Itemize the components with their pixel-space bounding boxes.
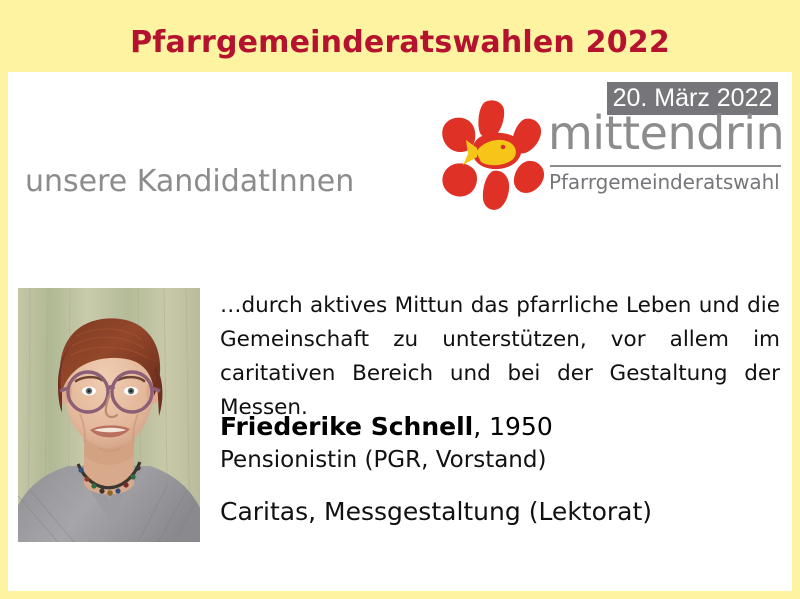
sun-fish-logo-icon	[433, 99, 555, 211]
candidate-name-line: Friederike Schnell, 1950	[220, 412, 553, 441]
logo-wordmark: mittendrin Pfarrgemeinderatswahl	[548, 107, 783, 207]
candidate-photo	[18, 288, 200, 542]
page-title: Pfarrgemeinderatswahlen 2022	[0, 25, 800, 60]
logo-subtitle: Pfarrgemeinderatswahl	[549, 170, 780, 194]
section-subtitle: unsere KandidatInnen	[25, 164, 354, 199]
poster: Pfarrgemeinderatswahlen 2022 20. März 20…	[0, 0, 800, 599]
logo-name: mittendrin	[548, 107, 784, 159]
candidate-roles: Caritas, Messgestaltung (Lektorat)	[220, 497, 652, 526]
logo: mittendrin Pfarrgemeinderatswahl	[433, 97, 783, 212]
candidate-quote: …durch aktives Mittun das pfarrliche Leb…	[220, 289, 780, 425]
logo-divider	[550, 165, 781, 167]
candidate-occupation: Pensionistin (PGR, Vorstand)	[220, 447, 546, 473]
candidate-birth-year: , 1950	[473, 412, 553, 441]
header-band: Pfarrgemeinderatswahlen 2022	[0, 0, 800, 72]
content-card: 20. März 2022	[8, 72, 792, 591]
candidate-name: Friederike Schnell	[220, 412, 473, 441]
